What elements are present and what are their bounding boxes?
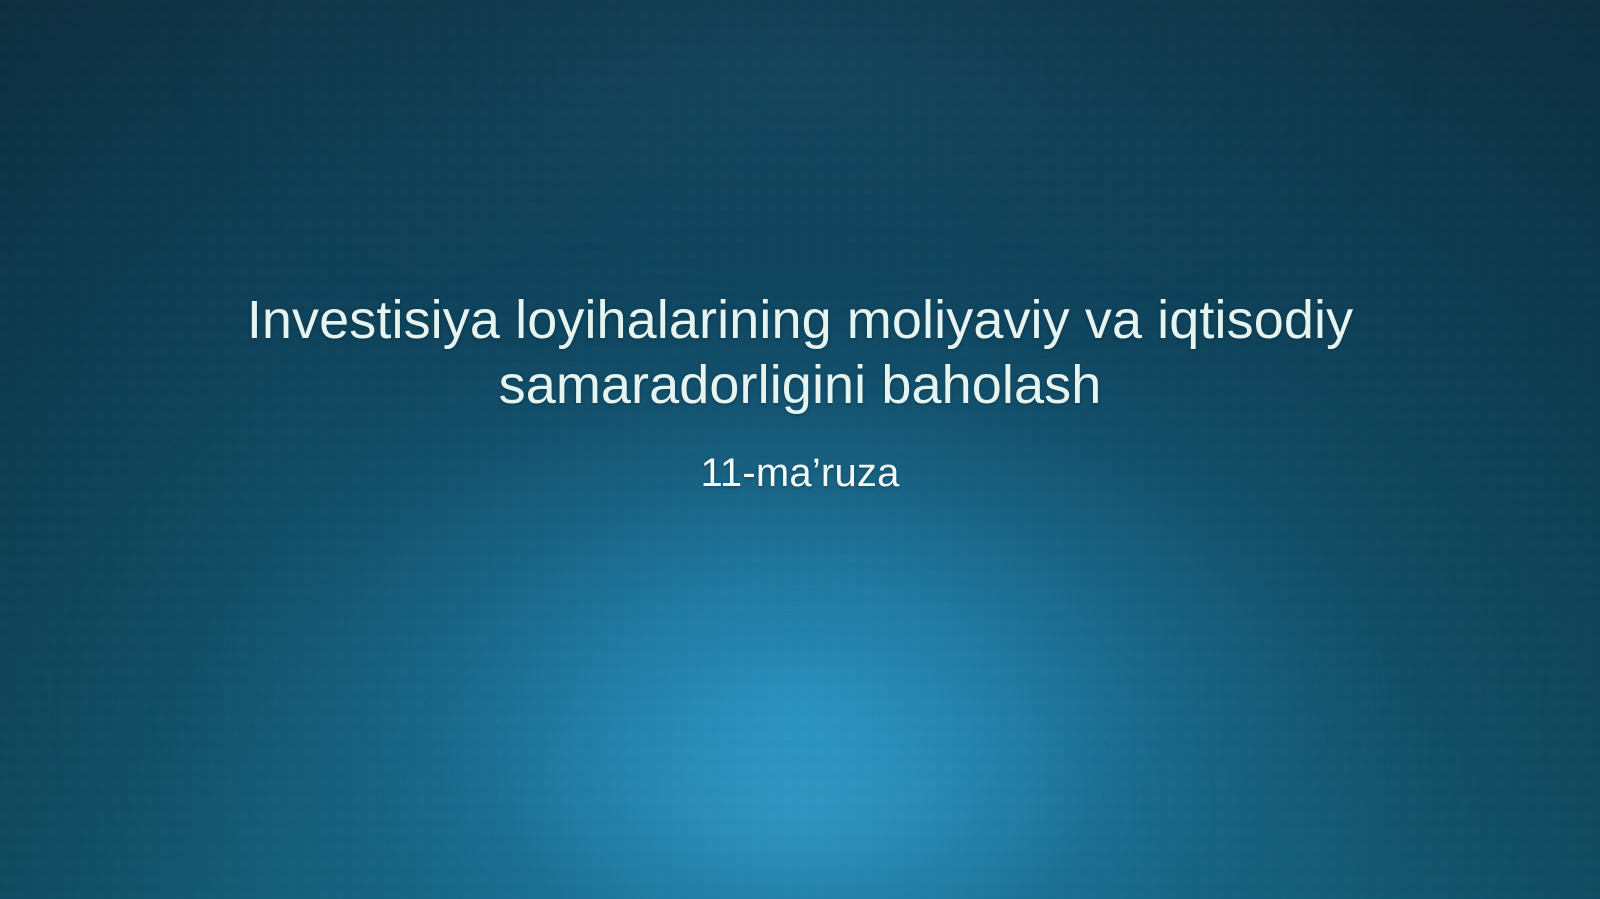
- slide-subtitle: 11-ma’ruza: [170, 449, 1430, 497]
- slide-content: Investisiya loyihalarining moliyaviy va …: [0, 0, 1600, 899]
- slide-title: Investisiya loyihalarining moliyaviy va …: [170, 288, 1430, 419]
- presentation-title-slide: Investisiya loyihalarining moliyaviy va …: [0, 0, 1600, 899]
